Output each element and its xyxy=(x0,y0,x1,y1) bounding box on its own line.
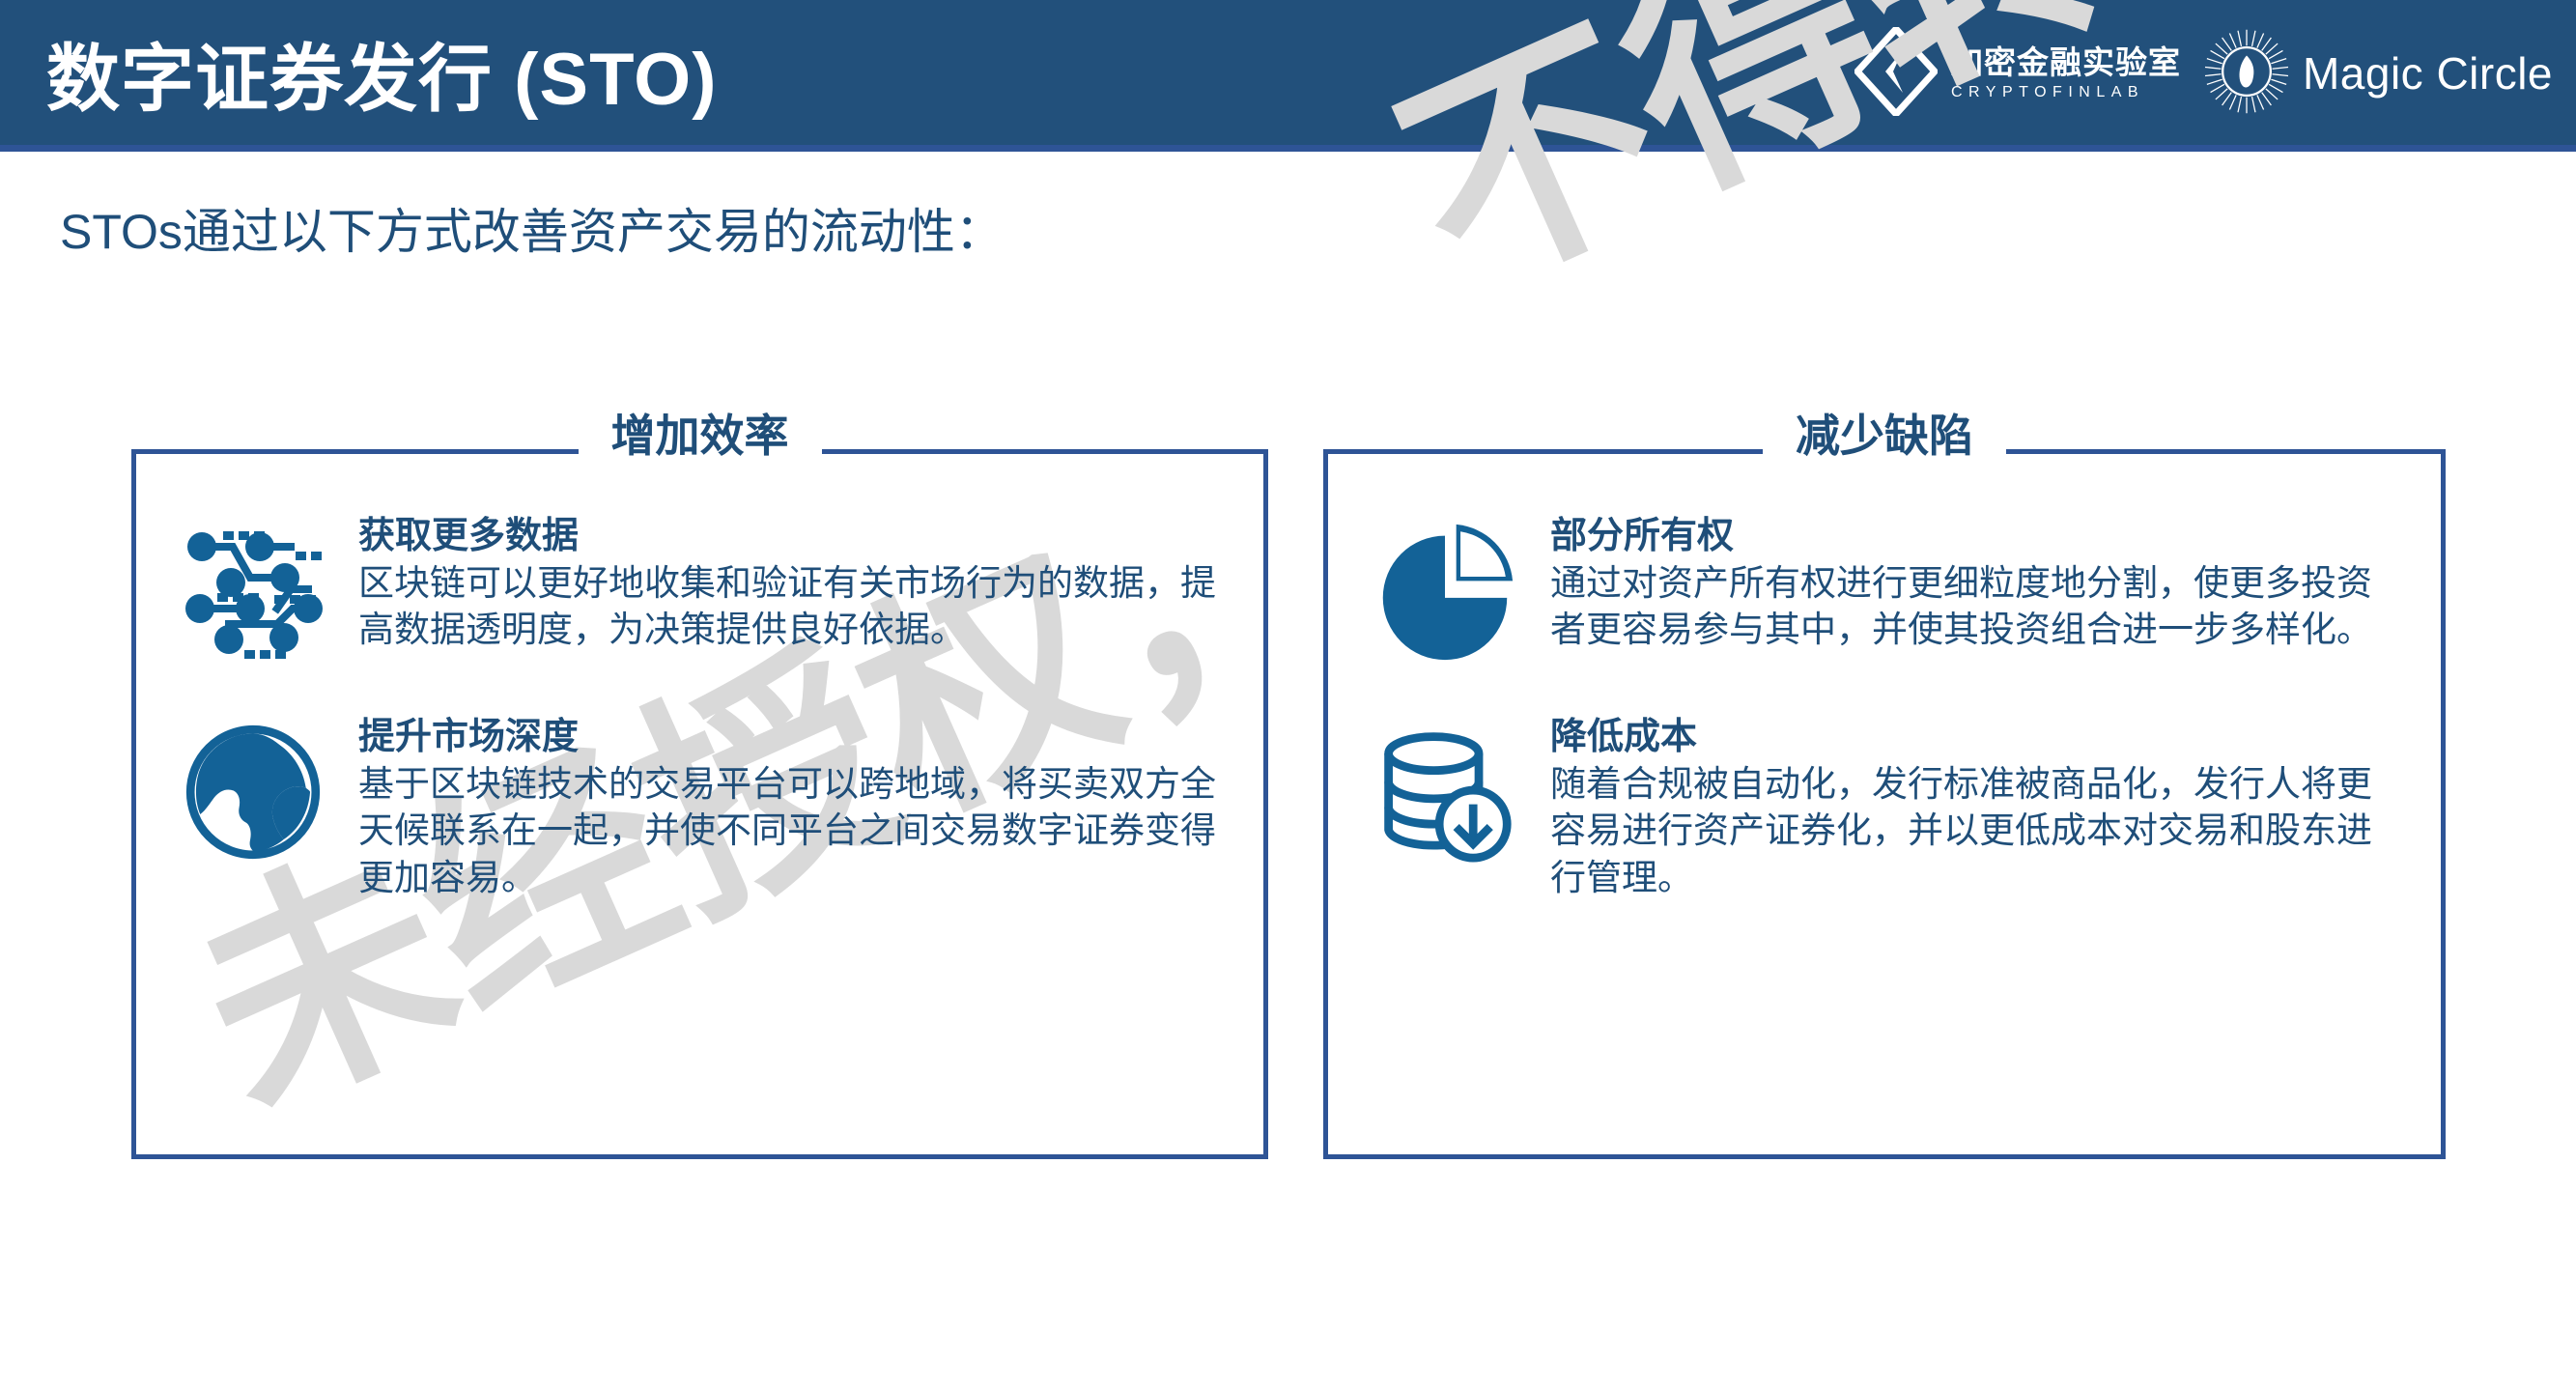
list-item-body: 部分所有权 通过对资产所有权进行更细粒度地分割，使更多投资者更容易参与其中，并使… xyxy=(1550,514,2396,654)
list-item-title: 部分所有权 xyxy=(1550,514,2396,558)
pie-chart-icon xyxy=(1373,514,1517,667)
magic-circle-logo: Magic Circle xyxy=(2202,27,2553,121)
list-item-description: 通过对资产所有权进行更细粒度地分割，使更多投资者更容易参与其中，并使其投资组合进… xyxy=(1550,560,2396,653)
diamond-logo-icon xyxy=(1854,27,1938,121)
cryptofinlab-wordmark: 加密金融实验室 CRYPTOFINLAB xyxy=(1951,46,2181,100)
subtitle: STOs通过以下方式改善资产交易的流动性： xyxy=(60,193,1004,263)
globe-icon xyxy=(181,715,326,867)
network-nodes-icon xyxy=(181,514,326,667)
panel-right-items: 部分所有权 通过对资产所有权进行更细粒度地分割，使更多投资者更容易参与其中，并使… xyxy=(1328,454,2441,1154)
list-item: 降低成本 随着合规被自动化，发行标准被商品化，发行人将更容易进行资产证券化，并以… xyxy=(1373,715,2396,901)
panel-left-items: 获取更多数据 区块链可以更好地收集和验证有关市场行为的数据，提高数据透明度，为决… xyxy=(136,454,1263,1154)
list-item-body: 提升市场深度 基于区块链技术的交易平台可以跨地域，将买卖双方全天候联系在一起，并… xyxy=(358,715,1219,901)
list-item-title: 提升市场深度 xyxy=(358,715,1219,759)
cryptofinlab-cn-name: 加密金融实验室 xyxy=(1951,46,2181,78)
cryptofinlab-en-name: CRYPTOFINLAB xyxy=(1951,85,2181,100)
circle-burst-logo-icon xyxy=(2202,27,2291,121)
panel-heading-left: 增加效率 xyxy=(579,413,822,458)
magic-circle-wordmark: Magic Circle xyxy=(2303,47,2553,99)
list-item: 获取更多数据 区块链可以更好地收集和验证有关市场行为的数据，提高数据透明度，为决… xyxy=(181,514,1219,667)
panel-heading-right: 减少缺陷 xyxy=(1763,413,2006,458)
cryptofinlab-logo: 加密金融实验室 CRYPTOFINLAB xyxy=(1854,27,2181,121)
header-accent-rule xyxy=(0,145,2576,152)
logo-group: 加密金融实验室 CRYPTOFINLAB xyxy=(1854,23,2553,124)
list-item-description: 区块链可以更好地收集和验证有关市场行为的数据，提高数据透明度，为决策提供良好依据… xyxy=(358,560,1219,653)
coins-down-arrow-icon xyxy=(1373,715,1517,867)
panel-reduce-defects: 减少缺陷 部分所有权 通过对资产所有权进行更细粒度地分割，使更多投资者更容易参与… xyxy=(1323,449,2446,1159)
list-item-body: 降低成本 随着合规被自动化，发行标准被商品化，发行人将更容易进行资产证券化，并以… xyxy=(1550,715,2396,901)
list-item: 提升市场深度 基于区块链技术的交易平台可以跨地域，将买卖双方全天候联系在一起，并… xyxy=(181,715,1219,901)
page-title: 数字证券发行 (STO) xyxy=(46,19,718,126)
list-item-description: 随着合规被自动化，发行标准被商品化，发行人将更容易进行资产证券化，并以更低成本对… xyxy=(1550,761,2396,900)
panel-increase-efficiency: 增加效率 xyxy=(131,449,1268,1159)
list-item-body: 获取更多数据 区块链可以更好地收集和验证有关市场行为的数据，提高数据透明度，为决… xyxy=(358,514,1219,654)
list-item-title: 获取更多数据 xyxy=(358,514,1219,558)
list-item-title: 降低成本 xyxy=(1550,715,2396,759)
list-item: 部分所有权 通过对资产所有权进行更细粒度地分割，使更多投资者更容易参与其中，并使… xyxy=(1373,514,2396,667)
list-item-description: 基于区块链技术的交易平台可以跨地域，将买卖双方全天候联系在一起，并使不同平台之间… xyxy=(358,761,1219,900)
